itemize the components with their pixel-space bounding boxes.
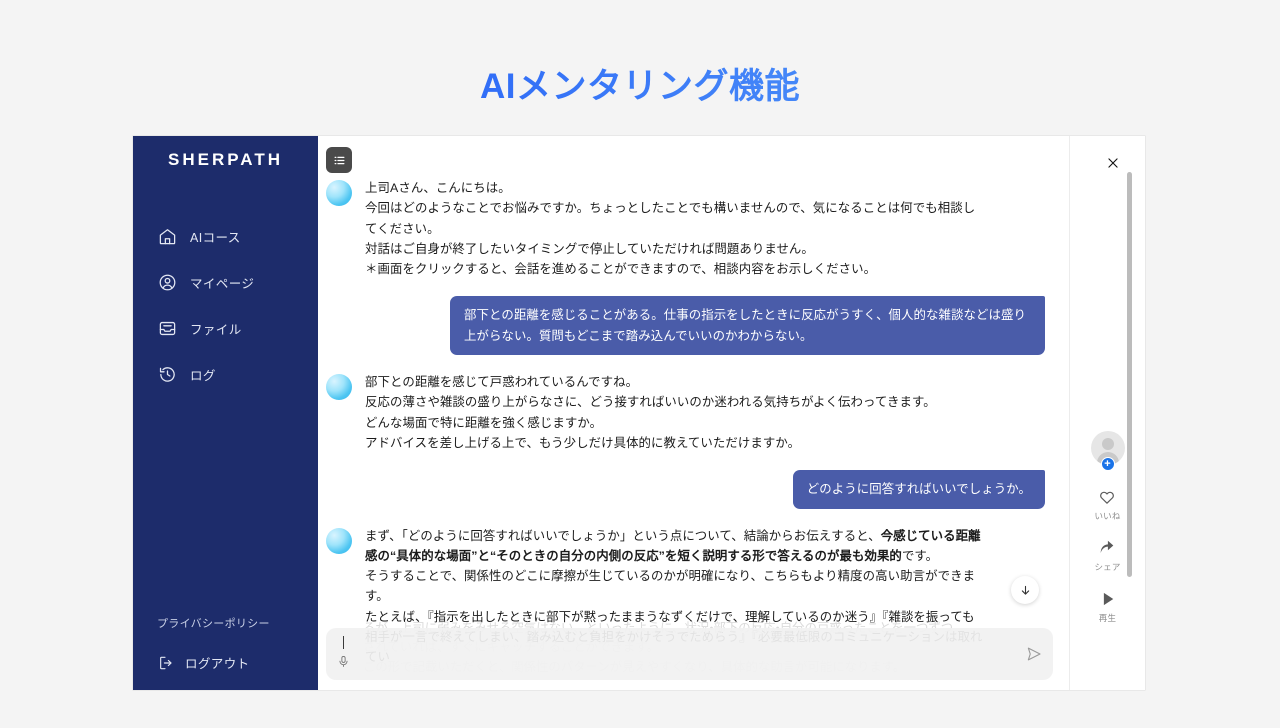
follow-plus-badge[interactable]: + bbox=[1101, 457, 1115, 471]
sidebar-item-log[interactable]: ログ bbox=[133, 356, 318, 392]
play-button[interactable]: 再生 bbox=[1099, 589, 1117, 624]
sidebar-item-label: ログ bbox=[190, 365, 216, 384]
message-line: そうすることで、関係性のどこに摩擦が生じているのかが明確になり、こちらもより精度… bbox=[365, 566, 985, 607]
user-circle-icon bbox=[157, 272, 177, 292]
message-user: 部下との距離を感じることがある。仕事の指示をしたときに反応がうすく、個人的な雑談… bbox=[326, 296, 1045, 355]
page-title: AIメンタリング機能 bbox=[0, 58, 1280, 109]
text-caret bbox=[343, 636, 344, 649]
message-line: 今回はどのようなことでお悩みですか。ちょっとしたことでも構いませんので、気になる… bbox=[365, 198, 985, 239]
sidebar: SHERPATH AIコース bbox=[133, 136, 318, 690]
brand-logo: SHERPATH bbox=[133, 150, 318, 170]
sidebar-item-files[interactable]: ファイル bbox=[133, 310, 318, 346]
sidebar-item-label: マイページ bbox=[190, 273, 254, 292]
share-button[interactable]: シェア bbox=[1094, 538, 1120, 573]
message-text: 部下との距離を感じて戸惑われているんですね。 反応の薄さや雑談の盛り上がらなさに… bbox=[365, 372, 936, 453]
sidebar-item-label: ファイル bbox=[190, 319, 242, 338]
page-root: AIメンタリング機能 SHERPATH AIコース bbox=[0, 0, 1280, 728]
message-line: どんな場面で特に距離を強く感じますか。 bbox=[365, 413, 936, 433]
history-icon bbox=[157, 364, 177, 384]
sidebar-item-my-page[interactable]: マイページ bbox=[133, 264, 318, 300]
sidebar-item-ai-course[interactable]: AIコース bbox=[133, 218, 318, 254]
chat-area: 上司Aさん、こんにちは。 今回はどのようなことでお悩みですか。ちょっとしたことで… bbox=[318, 136, 1145, 690]
rail-label: シェア bbox=[1094, 561, 1120, 573]
rail-label: いいね bbox=[1094, 510, 1120, 522]
message-line: 上司Aさん、こんにちは。 bbox=[365, 178, 985, 198]
message-line: 反応の薄さや雑談の盛り上がらなさに、どう接すればいいのか迷われる気持ちがよく伝わ… bbox=[365, 392, 936, 412]
avatar bbox=[326, 180, 352, 206]
logout-label: ログアウト bbox=[185, 653, 250, 672]
avatar bbox=[326, 528, 352, 554]
close-icon[interactable] bbox=[1103, 153, 1123, 173]
scrollbar-thumb[interactable] bbox=[1127, 172, 1132, 577]
message-bubble: 部下との距離を感じることがある。仕事の指示をしたときに反応がうすく、個人的な雑談… bbox=[450, 296, 1045, 355]
message-list: 上司Aさん、こんにちは。 今回はどのようなことでお悩みですか。ちょっとしたことで… bbox=[318, 136, 1063, 690]
avatar bbox=[326, 374, 352, 400]
message-ai: 部下との距離を感じて戸惑われているんですね。 反応の薄さや雑談の盛り上がらなさに… bbox=[326, 372, 1045, 453]
message-text: 上司Aさん、こんにちは。 今回はどのようなことでお悩みですか。ちょっとしたことで… bbox=[365, 178, 985, 279]
privacy-policy-link[interactable]: プライバシーポリシー bbox=[157, 615, 318, 631]
message-line: アドバイスを差し上げる上で、もう少しだけ具体的に教えていただけますか。 bbox=[365, 433, 936, 453]
play-icon bbox=[1099, 589, 1117, 609]
inbox-icon bbox=[157, 318, 177, 338]
send-icon[interactable] bbox=[1015, 645, 1053, 663]
message-line: 部下との距離を感じて戸惑われているんですね。 bbox=[365, 372, 936, 392]
scroll-to-bottom-button[interactable] bbox=[1011, 576, 1039, 604]
share-icon bbox=[1098, 538, 1116, 558]
logout-icon bbox=[157, 654, 174, 671]
message-user: どのように回答すればいいでしょうか。 bbox=[326, 470, 1045, 508]
sidebar-footer: プライバシーポリシー ログアウト bbox=[133, 615, 318, 690]
heart-icon bbox=[1098, 487, 1116, 507]
message-segment: です。 bbox=[902, 549, 938, 563]
message-input-bar bbox=[326, 628, 1053, 680]
message-ai: 上司Aさん、こんにちは。 今回はどのようなことでお悩みですか。ちょっとしたことで… bbox=[326, 178, 1045, 279]
microphone-icon[interactable] bbox=[337, 655, 350, 673]
message-line: 対話はご自身が終了したいタイミングで停止していただければ問題ありません。 bbox=[365, 239, 985, 259]
message-bubble: どのように回答すればいいでしょうか。 bbox=[793, 470, 1045, 508]
sidebar-item-label: AIコース bbox=[190, 227, 241, 246]
list-menu-icon[interactable] bbox=[326, 147, 352, 173]
home-icon bbox=[157, 226, 177, 246]
sidebar-nav: AIコース マイページ bbox=[133, 218, 318, 392]
app-window: SHERPATH AIコース bbox=[133, 136, 1145, 690]
rail-avatar[interactable]: + bbox=[1091, 431, 1125, 465]
right-action-rail: + いいね シェア bbox=[1069, 136, 1145, 690]
logout-button[interactable]: ログアウト bbox=[157, 653, 318, 672]
rail-label: 再生 bbox=[1099, 612, 1116, 624]
like-button[interactable]: いいね bbox=[1094, 487, 1120, 522]
message-segment: まず、「どのように回答すればいいでしょうか」という点について、結論からお伝えする… bbox=[365, 529, 881, 543]
message-line: ＊画面をクリックすると、会話を進めることができますので、相談内容をお示しください… bbox=[365, 259, 985, 279]
message-input[interactable] bbox=[360, 628, 1015, 680]
input-left-controls bbox=[326, 628, 360, 680]
